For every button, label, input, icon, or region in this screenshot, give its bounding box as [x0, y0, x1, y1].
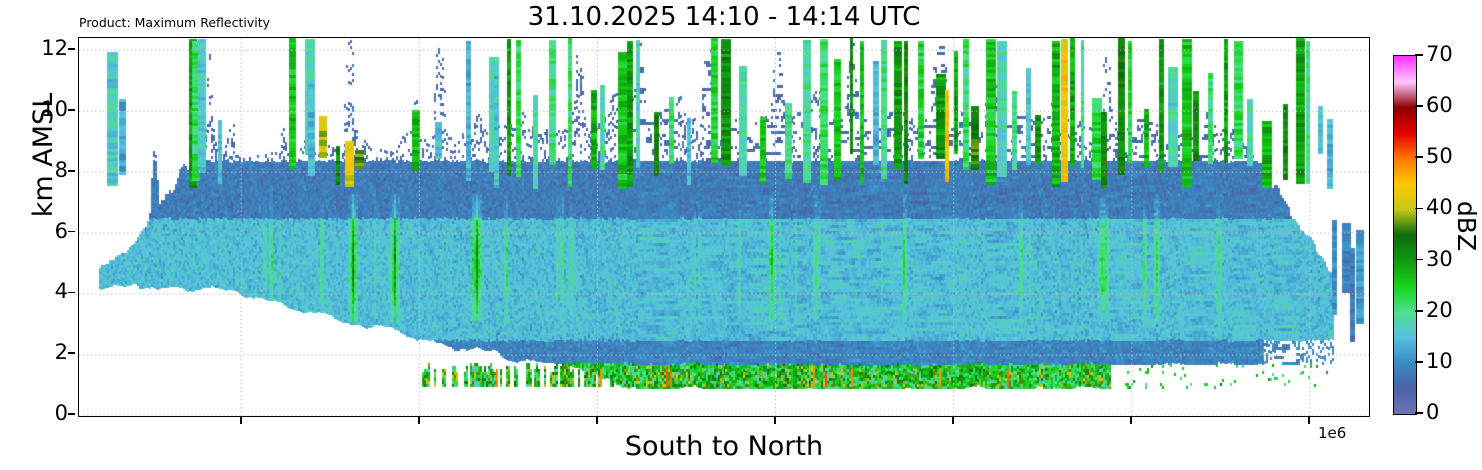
y-tick-mark: [68, 170, 75, 172]
colorbar-tick-mark: [1415, 412, 1423, 414]
colorbar-tick-mark: [1415, 208, 1423, 210]
colorbar-tick-label-40: 40: [1426, 197, 1453, 218]
colorbar-tick-mark: [1415, 156, 1423, 158]
x-tick-mark: [418, 417, 420, 424]
plot-area: [78, 37, 1370, 417]
y-tick-mark: [68, 292, 75, 294]
product-label: Product: Maximum Reflectivity: [79, 16, 270, 30]
y-axis-label: km AMSL: [29, 65, 59, 245]
y-tick-label-2: 2: [24, 342, 68, 363]
y-tick-mark: [68, 352, 75, 354]
x-tick-mark: [1308, 417, 1310, 424]
colorbar-tick-mark: [1415, 105, 1423, 107]
y-tick-mark: [68, 413, 75, 415]
y-tick-label-0: 0: [24, 403, 68, 424]
colorbar-tick-label-70: 70: [1426, 44, 1453, 65]
reflectivity-heatmap: [79, 38, 1368, 415]
x-tick-mark: [240, 417, 242, 424]
x-axis-ticks: [78, 417, 1370, 427]
x-tick-mark: [596, 417, 598, 424]
colorbar-tick-label-0: 0: [1426, 402, 1439, 423]
chart-title: 31.10.2025 14:10 - 14:14 UTC: [78, 2, 1370, 32]
colorbar-tick-label-30: 30: [1426, 249, 1453, 270]
colorbar-tick-label-60: 60: [1426, 95, 1453, 116]
x-axis-offset-text: 1e6: [1318, 425, 1346, 442]
y-tick-mark: [68, 231, 75, 233]
colorbar-tick-label-20: 20: [1426, 300, 1453, 321]
colorbar-tick-label-50: 50: [1426, 146, 1453, 167]
x-tick-mark: [952, 417, 954, 424]
x-axis-label: South to North: [78, 432, 1370, 462]
y-tick-label-4: 4: [24, 281, 68, 302]
colorbar-label: dBZ: [1452, 166, 1480, 286]
colorbar-tick-mark: [1415, 259, 1423, 261]
y-tick-label-12: 12: [24, 38, 68, 59]
y-tick-mark: [68, 109, 75, 111]
colorbar-tick-label-10: 10: [1426, 351, 1453, 372]
radar-cross-section-figure: 31.10.2025 14:10 - 14:14 UTC Product: Ma…: [0, 0, 1482, 470]
x-tick-mark: [774, 417, 776, 424]
y-tick-mark: [68, 48, 75, 50]
colorbar-tick-mark: [1415, 54, 1423, 56]
x-tick-mark: [1130, 417, 1132, 424]
colorbar-tick-mark: [1415, 361, 1423, 363]
colorbar-tick-mark: [1415, 310, 1423, 312]
